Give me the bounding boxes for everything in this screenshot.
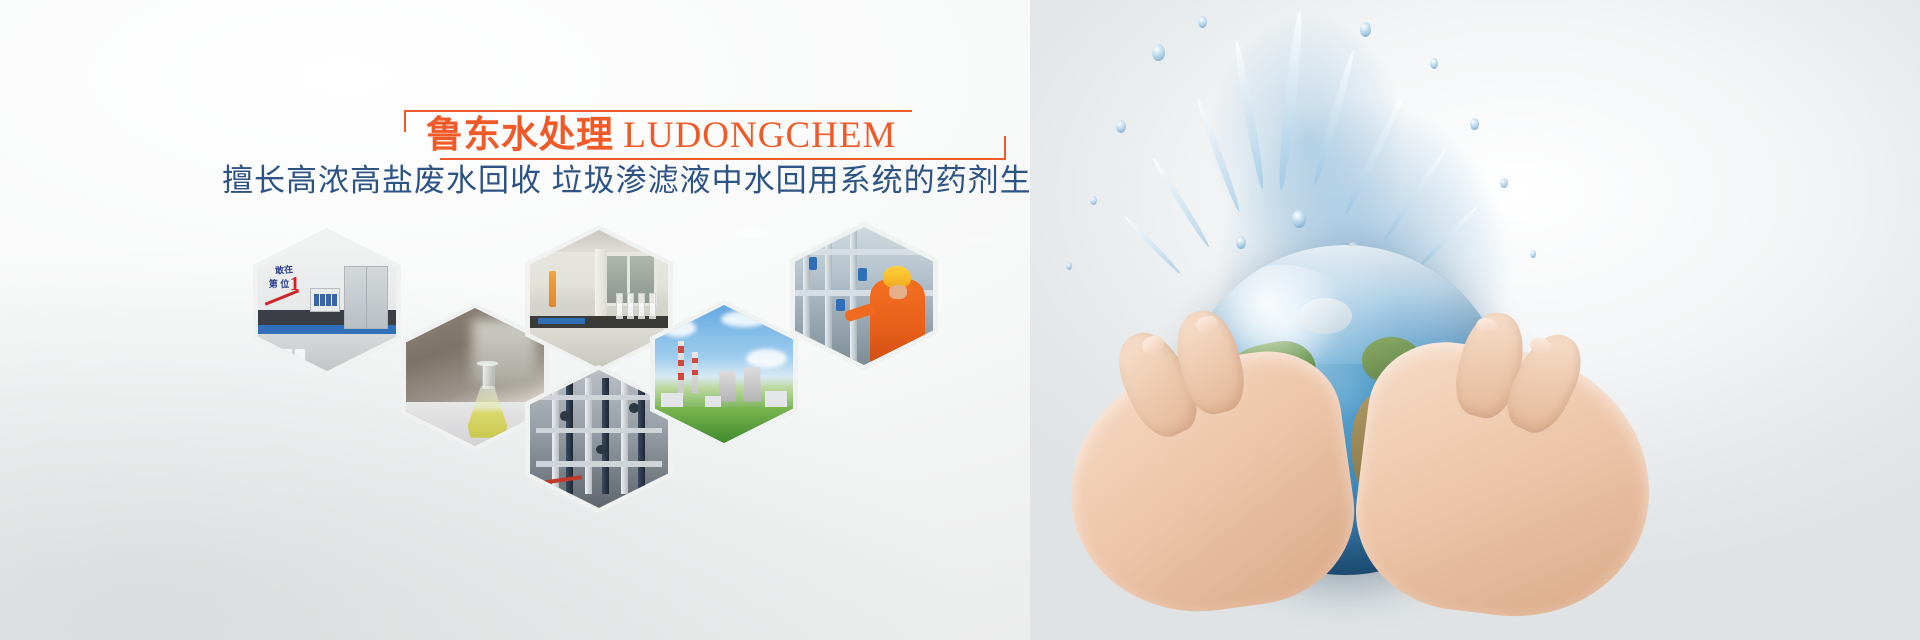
wall-slogan: 敢在 1 第 位 [268, 263, 323, 299]
gallery-item-lab-room[interactable]: 敢在 1 第 位 [253, 228, 401, 376]
gallery-item-worker[interactable] [790, 222, 938, 370]
banner-root: 鲁东水处理 LUDONGCHEM 擅长高浓高盐废水回收 垃圾渗滤液中水回用系统的… [0, 0, 1920, 640]
slogan-end-text: 第 位 [269, 277, 290, 290]
highlight-dot [968, 236, 996, 244]
water-globe-artwork [1030, 0, 1920, 640]
highlight-dot [735, 228, 771, 238]
hexagon-gallery: 敢在 1 第 位 [0, 0, 1100, 640]
